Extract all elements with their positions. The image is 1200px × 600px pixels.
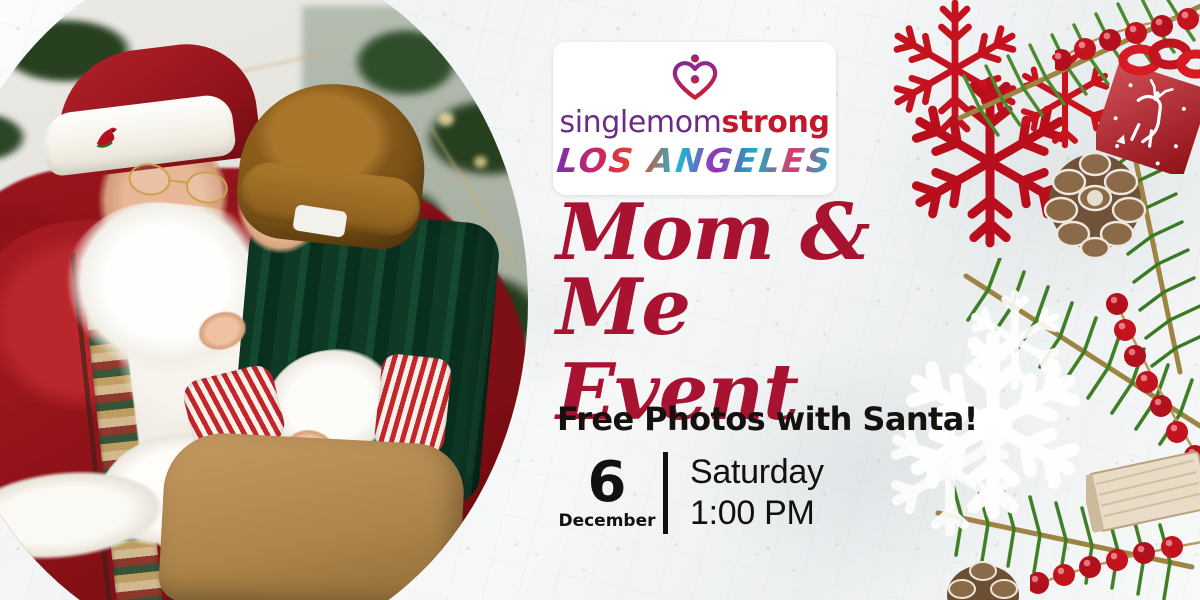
heart-people-icon [666,54,724,100]
bokeh-light [474,156,487,168]
cardinal-bird-pin-icon [88,118,127,157]
event-poster: singlemomstrong LOS ANGELES Mom & Me Eve… [0,0,1200,600]
logo-wordmark: singlemomstrong [559,105,829,140]
eyeglass-bridge [168,179,188,184]
event-day-number: 6 [557,456,657,509]
event-month: December [557,511,657,531]
logo-wordmark-part-2: strong [721,105,829,140]
logo-city-name: LOS ANGELES [555,141,834,180]
subtitle: Free Photos with Santa! [557,400,978,438]
organization-logo-card: singlemomstrong LOS ANGELES [553,42,836,195]
event-date-block: 6 December [557,456,657,531]
eyeglass-lens-left [126,161,172,199]
eyeglass-lens-right [184,169,230,207]
candy-stripe-fabric [373,353,453,456]
logo-wordmark-part-1: singlemom [559,105,721,140]
bokeh-light [438,112,454,126]
page-title: Mom & Me Event [556,196,986,431]
event-datetime: 6 December Saturday 1:00 PM [557,452,824,535]
santa-photo-oval [0,0,528,600]
vertical-divider [663,452,668,534]
event-time-block: Saturday 1:00 PM [690,452,824,535]
event-weekday: Saturday [690,452,824,493]
event-time: 1:00 PM [690,493,824,534]
headline-line-1: Mom & Me [556,187,869,353]
santa-photo-scene [0,0,528,600]
child-pants [158,430,466,600]
